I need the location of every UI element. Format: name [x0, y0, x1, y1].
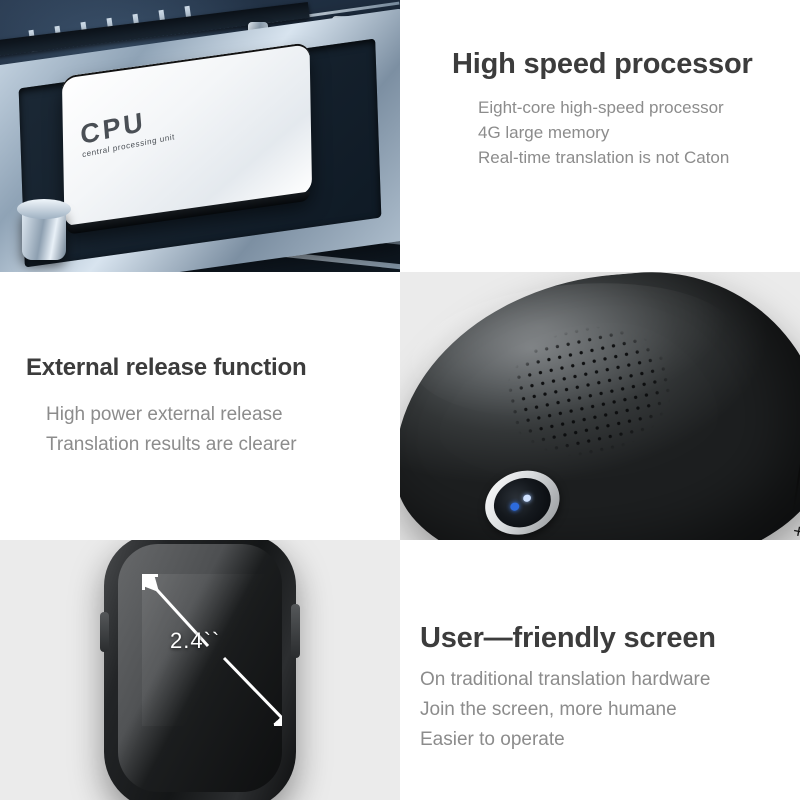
- panel-body: Eight-core high-speed processor 4G large…: [452, 95, 800, 170]
- measure-corner-top-left: [142, 574, 158, 590]
- cpu-motherboard-image: CPU central processing unit: [0, 0, 400, 272]
- screen-size-label: 2.4``: [170, 628, 220, 654]
- translator-device-body: +: [400, 272, 800, 540]
- body-line: Eight-core high-speed processor: [478, 95, 800, 120]
- panel-heading: User—friendly screen: [420, 622, 800, 655]
- panel-body: High power external release Translation …: [26, 400, 400, 460]
- body-line: Translation results are clearer: [46, 430, 400, 460]
- side-button-seam: [792, 428, 800, 515]
- body-line: Easier to operate: [420, 725, 800, 755]
- board-screw: [22, 208, 66, 260]
- body-line: 4G large memory: [478, 120, 800, 145]
- panel-heading: External release function: [26, 354, 400, 382]
- diagonal-measure-arrow: [142, 574, 282, 726]
- body-line: Real-time translation is not Caton: [478, 145, 800, 170]
- speaker-device-image: +: [400, 272, 800, 540]
- lens-reflection: [522, 494, 532, 503]
- panel-heading: High speed processor: [452, 48, 800, 81]
- side-button-right: [291, 604, 300, 658]
- body-line: On traditional translation hardware: [420, 665, 800, 695]
- panel-high-speed-processor: High speed processor Eight-core high-spe…: [400, 0, 800, 272]
- panel-user-friendly-screen: User—friendly screen On traditional tran…: [400, 540, 800, 800]
- feature-grid: CPU central processing unit High speed p…: [0, 0, 800, 800]
- camera-lens: [476, 460, 569, 540]
- cpu-chip-text: CPU central processing unit: [79, 103, 175, 160]
- body-line: High power external release: [46, 400, 400, 430]
- side-button-left: [100, 612, 109, 652]
- body-line: Join the screen, more humane: [420, 695, 800, 725]
- lens-reflection: [509, 501, 520, 512]
- device-face: 2.4``: [118, 544, 282, 792]
- panel-body: On traditional translation hardware Join…: [420, 665, 800, 755]
- translator-device-front: 2.4``: [104, 540, 296, 800]
- screen-device-image: 2.4``: [0, 540, 400, 800]
- volume-up-icon: +: [791, 522, 800, 540]
- lens-glass: [487, 470, 558, 536]
- panel-external-release-function: External release function High power ext…: [0, 272, 400, 540]
